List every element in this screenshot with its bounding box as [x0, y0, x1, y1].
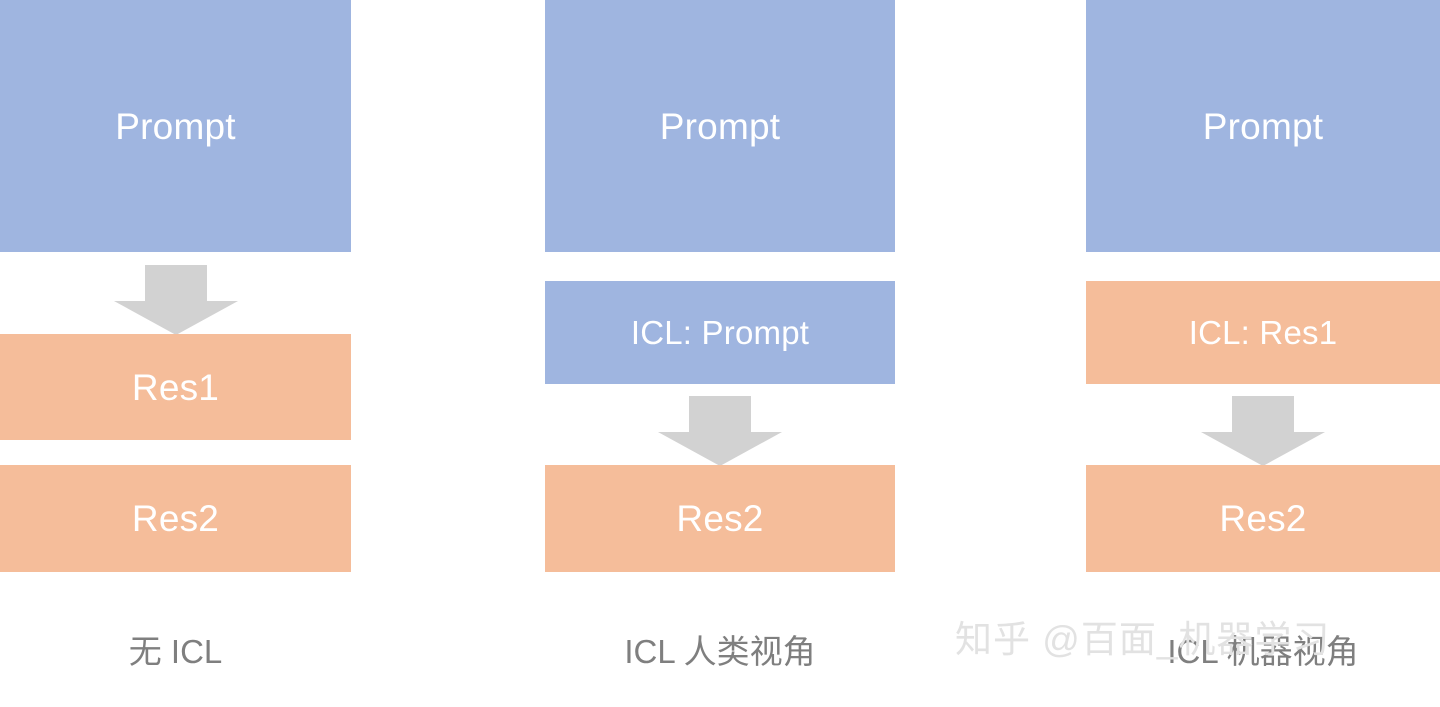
block-label: Res2 [132, 500, 219, 537]
block-res2: Res2 [0, 465, 351, 572]
column-no-icl: Prompt Res1 Res2 无 ICL [0, 0, 351, 707]
block-res2: Res2 [1086, 465, 1440, 572]
column-icl-machine: Prompt ICL: Res1 Res2 ICL 机器视角 [1086, 0, 1440, 707]
block-prompt: Prompt [545, 0, 895, 252]
block-icl-res1: ICL: Res1 [1086, 281, 1440, 384]
diagram-canvas: Prompt Res1 Res2 无 ICL Prompt ICL: Promp… [0, 0, 1440, 707]
down-arrow-icon [658, 396, 782, 466]
down-arrow-icon [114, 265, 238, 335]
block-label: Prompt [660, 108, 780, 145]
block-res1: Res1 [0, 334, 351, 440]
column-icl-human: Prompt ICL: Prompt Res2 ICL 人类视角 [545, 0, 895, 707]
column-caption-no-icl: 无 ICL [0, 635, 351, 668]
down-arrow-icon [1201, 396, 1325, 466]
block-icl-prompt: ICL: Prompt [545, 281, 895, 384]
block-label: ICL: Res1 [1189, 316, 1338, 349]
block-label: Res1 [132, 369, 219, 406]
block-label: Res2 [676, 500, 763, 537]
block-label: Prompt [115, 108, 235, 145]
block-label: ICL: Prompt [631, 316, 809, 349]
column-caption-icl-machine: ICL 机器视角 [1086, 635, 1440, 668]
block-prompt: Prompt [1086, 0, 1440, 252]
block-label: Prompt [1203, 108, 1323, 145]
block-res2: Res2 [545, 465, 895, 572]
block-label: Res2 [1219, 500, 1306, 537]
column-caption-icl-human: ICL 人类视角 [545, 635, 895, 668]
block-prompt: Prompt [0, 0, 351, 252]
